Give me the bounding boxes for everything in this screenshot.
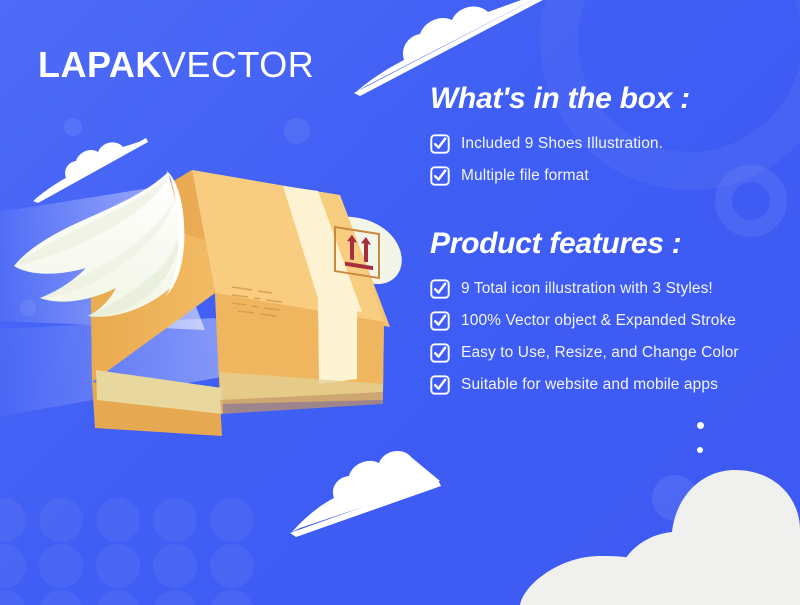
whats-in-the-box-heading: What's in the box : [430, 82, 790, 116]
list-item: 9 Total icon illustration with 3 Styles! [430, 279, 790, 299]
brand-name-bold: LAPAK [38, 44, 162, 85]
list-item-label: Easy to Use, Resize, and Change Color [461, 344, 739, 362]
decorative-dot-bottom-right [652, 475, 698, 521]
list-item-label: 100% Vector object & Expanded Stroke [461, 312, 736, 330]
list-item: Suitable for website and mobile apps [430, 375, 790, 395]
checkbox-checked-icon [430, 311, 450, 331]
list-item-label: 9 Total icon illustration with 3 Styles! [461, 280, 713, 298]
whats-in-the-box-list: Included 9 Shoes Illustration. Multiple … [430, 134, 790, 186]
checkbox-checked-icon [430, 134, 450, 154]
content-panel: What's in the box : Included 9 Shoes Ill… [430, 82, 790, 407]
decorative-dot-grid [0, 498, 242, 605]
brand-name-light: VECTOR [162, 44, 314, 85]
checkbox-checked-icon [430, 375, 450, 395]
list-item-label: Suitable for website and mobile apps [461, 376, 718, 394]
checkbox-checked-icon [430, 166, 450, 186]
product-features-heading: Product features : [430, 227, 790, 261]
product-features-list: 9 Total icon illustration with 3 Styles!… [430, 279, 790, 395]
checkbox-checked-icon [430, 343, 450, 363]
list-item-label: Multiple file format [461, 167, 589, 185]
list-item: 100% Vector object & Expanded Stroke [430, 311, 790, 331]
list-item: Multiple file format [430, 166, 790, 186]
decorative-dot-white-b [697, 447, 703, 453]
list-item-label: Included 9 Shoes Illustration. [461, 135, 663, 153]
checkbox-checked-icon [430, 279, 450, 299]
list-item: Included 9 Shoes Illustration. [430, 134, 790, 154]
brand-logo: LAPAKVECTOR [38, 44, 314, 86]
list-item: Easy to Use, Resize, and Change Color [430, 343, 790, 363]
poster-canvas: LAPAKVECTOR What's in the box : Included… [0, 0, 800, 605]
decorative-dot-white-a [697, 422, 704, 429]
